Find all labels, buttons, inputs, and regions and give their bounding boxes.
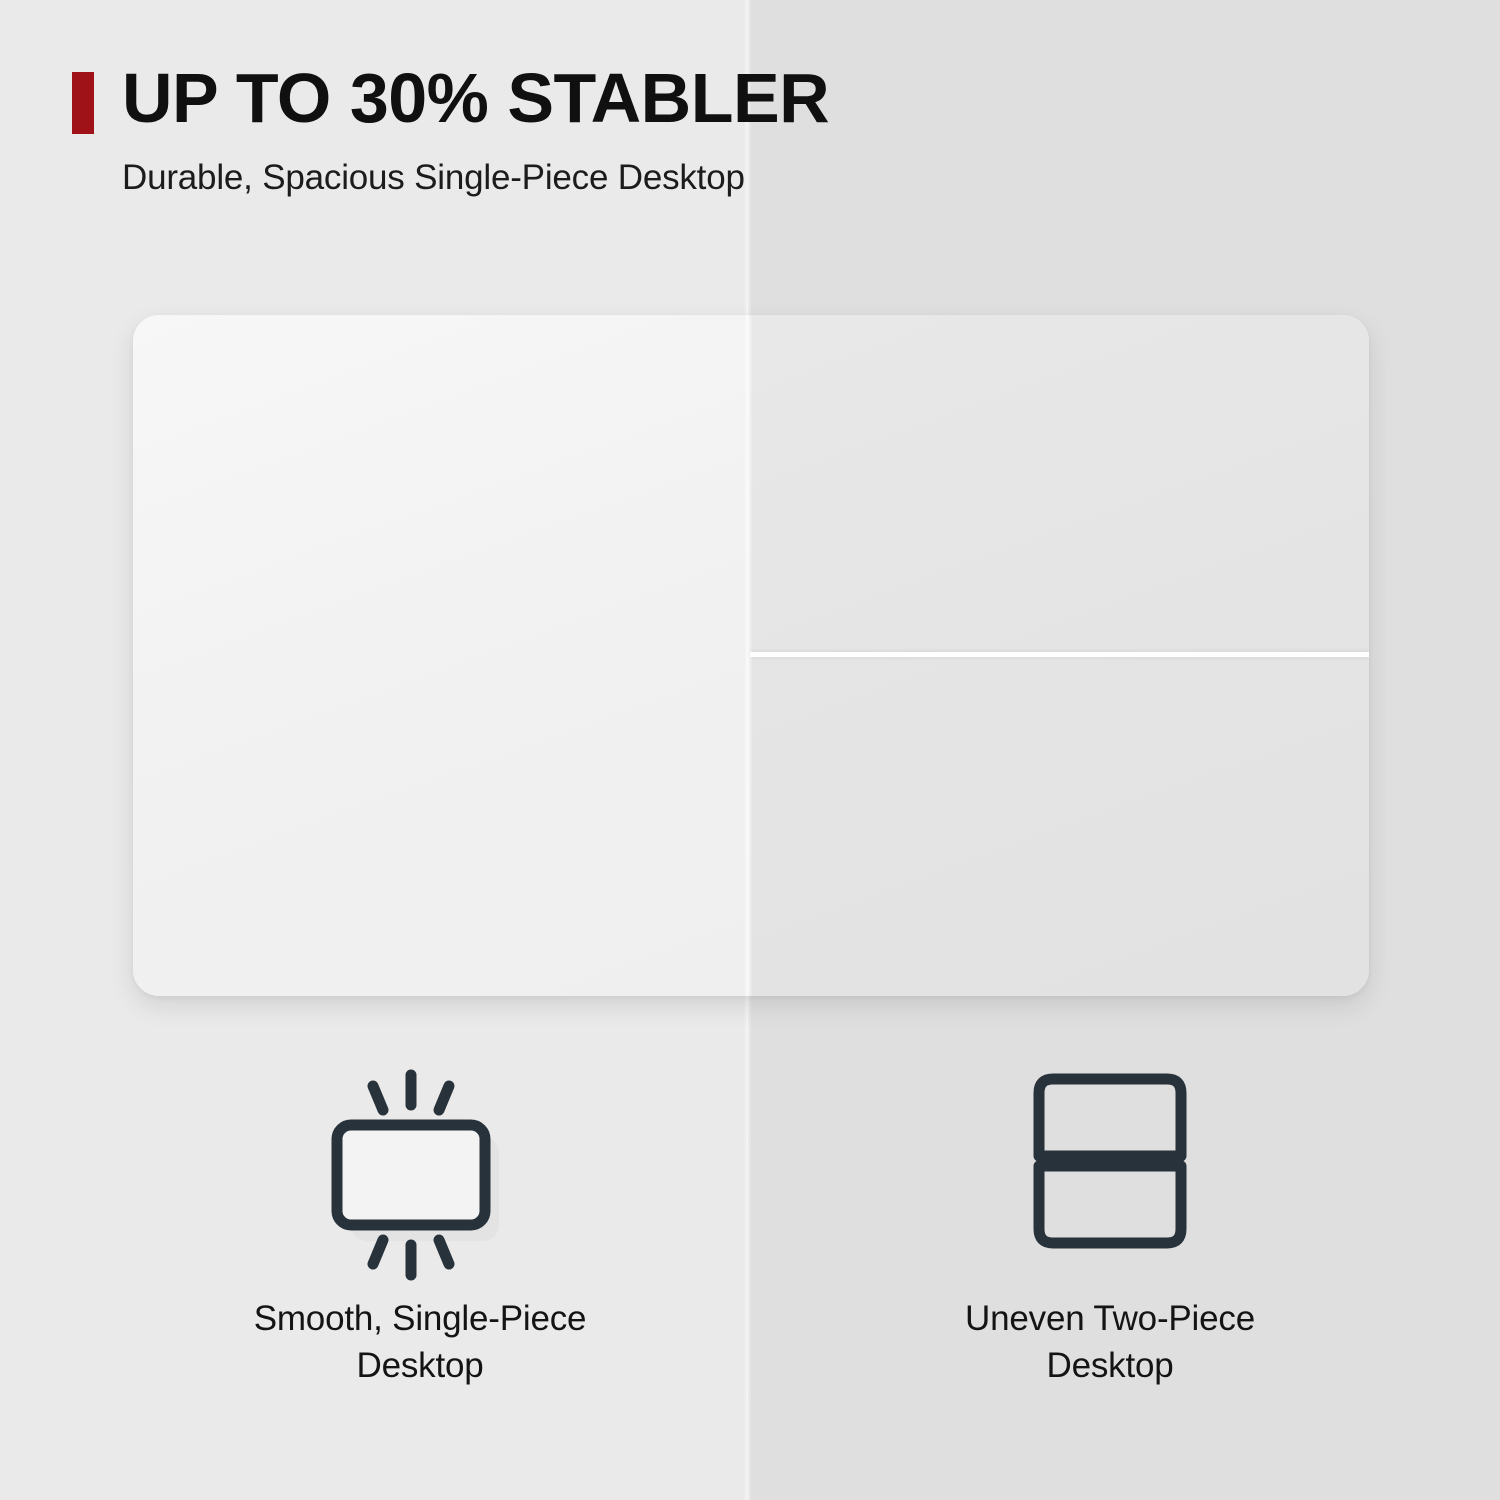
two-piece-icon-wrap — [810, 1040, 1410, 1295]
single-piece-icon-wrap — [120, 1040, 720, 1295]
desktop-panel-joint-seam — [750, 652, 1369, 657]
page-title: UP TO 30% STABLER — [122, 62, 829, 134]
single-piece-caption: Smooth, Single-Piece Desktop — [120, 1295, 720, 1389]
promo-banner: UP TO 30% STABLER Durable, Spacious Sing… — [0, 0, 1500, 1500]
page-subtitle: Durable, Spacious Single-Piece Desktop — [122, 156, 1412, 200]
two-piece-caption-line1: Uneven Two-Piece — [810, 1295, 1410, 1342]
single-piece-caption-line2: Desktop — [120, 1342, 720, 1389]
single-piece-caption-line1: Smooth, Single-Piece — [120, 1295, 720, 1342]
two-piece-desktop-icon — [995, 1053, 1225, 1283]
comparison-item-single-piece: Smooth, Single-Piece Desktop — [120, 1040, 720, 1389]
comparison-row: Smooth, Single-Piece Desktop Uneven Two-… — [0, 1040, 1500, 1460]
accent-bar — [72, 72, 94, 134]
header: UP TO 30% STABLER Durable, Spacious Sing… — [72, 62, 1412, 200]
desktop-panel-single-piece-face — [133, 315, 748, 996]
two-piece-caption-line2: Desktop — [810, 1342, 1410, 1389]
title-row: UP TO 30% STABLER — [72, 62, 1412, 134]
single-piece-desktop-icon — [305, 1053, 535, 1283]
desktop-panel — [133, 315, 1369, 996]
desktop-panel-body — [133, 315, 1369, 996]
comparison-item-two-piece: Uneven Two-Piece Desktop — [810, 1040, 1410, 1389]
two-piece-caption: Uneven Two-Piece Desktop — [810, 1295, 1410, 1389]
